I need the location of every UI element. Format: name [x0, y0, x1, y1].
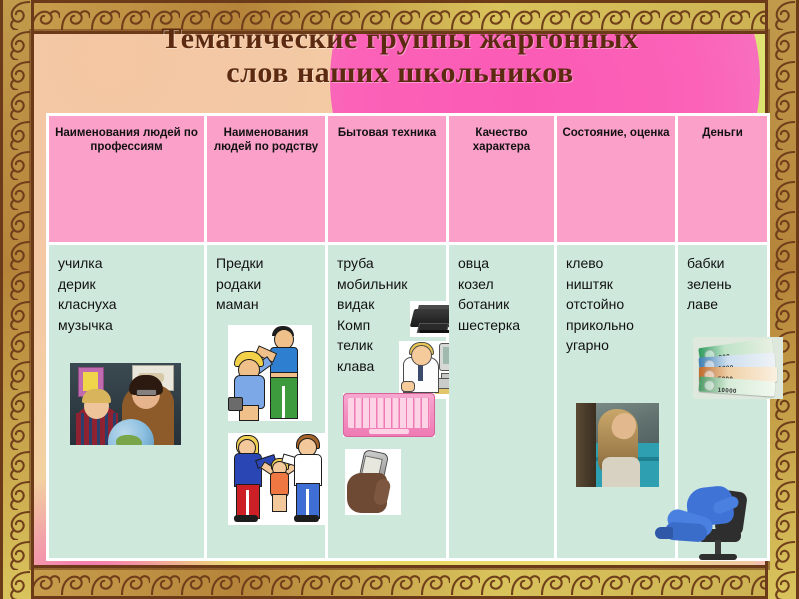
clipart-grandmother-and-man — [228, 325, 312, 421]
word-item: угарно — [566, 335, 675, 356]
column-header-character: Качество характера — [449, 116, 554, 242]
cell-character: овца козел ботаник шестерка — [449, 245, 554, 558]
cell-state: клево ништяк отстойно прикольно угарно — [557, 245, 675, 558]
table-row: училка дерик класнуха музычка — [49, 245, 767, 558]
column-header-kinship: Наименования людей по родству — [207, 116, 325, 242]
jargon-table: Наименования людей по профессиям Наимено… — [46, 113, 770, 561]
word-item: дерик — [58, 274, 204, 295]
cell-professions: училка дерик класнуха музычка — [49, 245, 204, 558]
word-item: шестерка — [458, 315, 554, 336]
blue-character-in-office-chair — [663, 485, 759, 571]
clipart-family-mother-child-father — [228, 433, 326, 525]
word-item: прикольно — [566, 315, 675, 336]
banknote-value: 10000 — [717, 381, 738, 399]
cell-kinship: Предки родаки маман — [207, 245, 325, 558]
column-header-money: Деньги — [678, 116, 767, 242]
word-item: мобильник — [337, 274, 446, 295]
word-item: ботаник — [458, 294, 554, 315]
photo-hand-with-mobile-phone — [345, 449, 401, 515]
jargon-table-wrapper: Наименования людей по профессиям Наимено… — [46, 113, 755, 561]
word-item: Предки — [216, 253, 325, 274]
word-item: родаки — [216, 274, 325, 295]
word-item: маман — [216, 294, 325, 315]
column-header-state: Состояние, оценка — [557, 116, 675, 242]
word-list-character: овца козел ботаник шестерка — [458, 253, 554, 335]
word-item: музычка — [58, 315, 204, 336]
photo-pink-keyboard — [343, 393, 435, 437]
word-item: бабки — [687, 253, 767, 274]
table-body: училка дерик класнуха музычка — [49, 245, 767, 558]
word-item: класнуха — [58, 294, 204, 315]
word-list-kinship: Предки родаки маман — [216, 253, 325, 315]
table-header-row-group: Наименования людей по профессиям Наимено… — [49, 116, 767, 242]
page-title: Тематические группы жаргонных слов наших… — [50, 22, 750, 90]
word-list-state: клево ништяк отстойно прикольно угарно — [566, 253, 675, 356]
table-header-row: Наименования людей по профессиям Наимено… — [49, 116, 767, 242]
slide-canvas: Тематические группы жаргонных слов наших… — [0, 0, 799, 599]
word-item: зелень — [687, 274, 767, 295]
cell-appliances: труба мобильник видак Комп телик клава — [328, 245, 446, 558]
column-header-appliances: Бытовая техника — [328, 116, 446, 242]
page-title-line-1: Тематические группы жаргонных — [50, 22, 750, 56]
word-list-professions: училка дерик класнуха музычка — [58, 253, 204, 335]
word-list-money: бабки зелень лаве — [687, 253, 767, 315]
word-item: клево — [566, 253, 675, 274]
photo-teacher-with-child-and-globe — [70, 363, 181, 445]
word-item: козел — [458, 274, 554, 295]
word-item: овца — [458, 253, 554, 274]
photo-laughing-girl-on-bench — [576, 403, 659, 487]
word-item: отстойно — [566, 294, 675, 315]
word-item: труба — [337, 253, 446, 274]
word-item: училка — [58, 253, 204, 274]
photo-russian-ruble-banknotes: 500 1000 5000 10000 — [693, 337, 783, 399]
word-item: ништяк — [566, 274, 675, 295]
column-header-professions: Наименования людей по профессиям — [49, 116, 204, 242]
word-item: лаве — [687, 294, 767, 315]
page-title-line-2: слов наших школьников — [50, 56, 750, 90]
